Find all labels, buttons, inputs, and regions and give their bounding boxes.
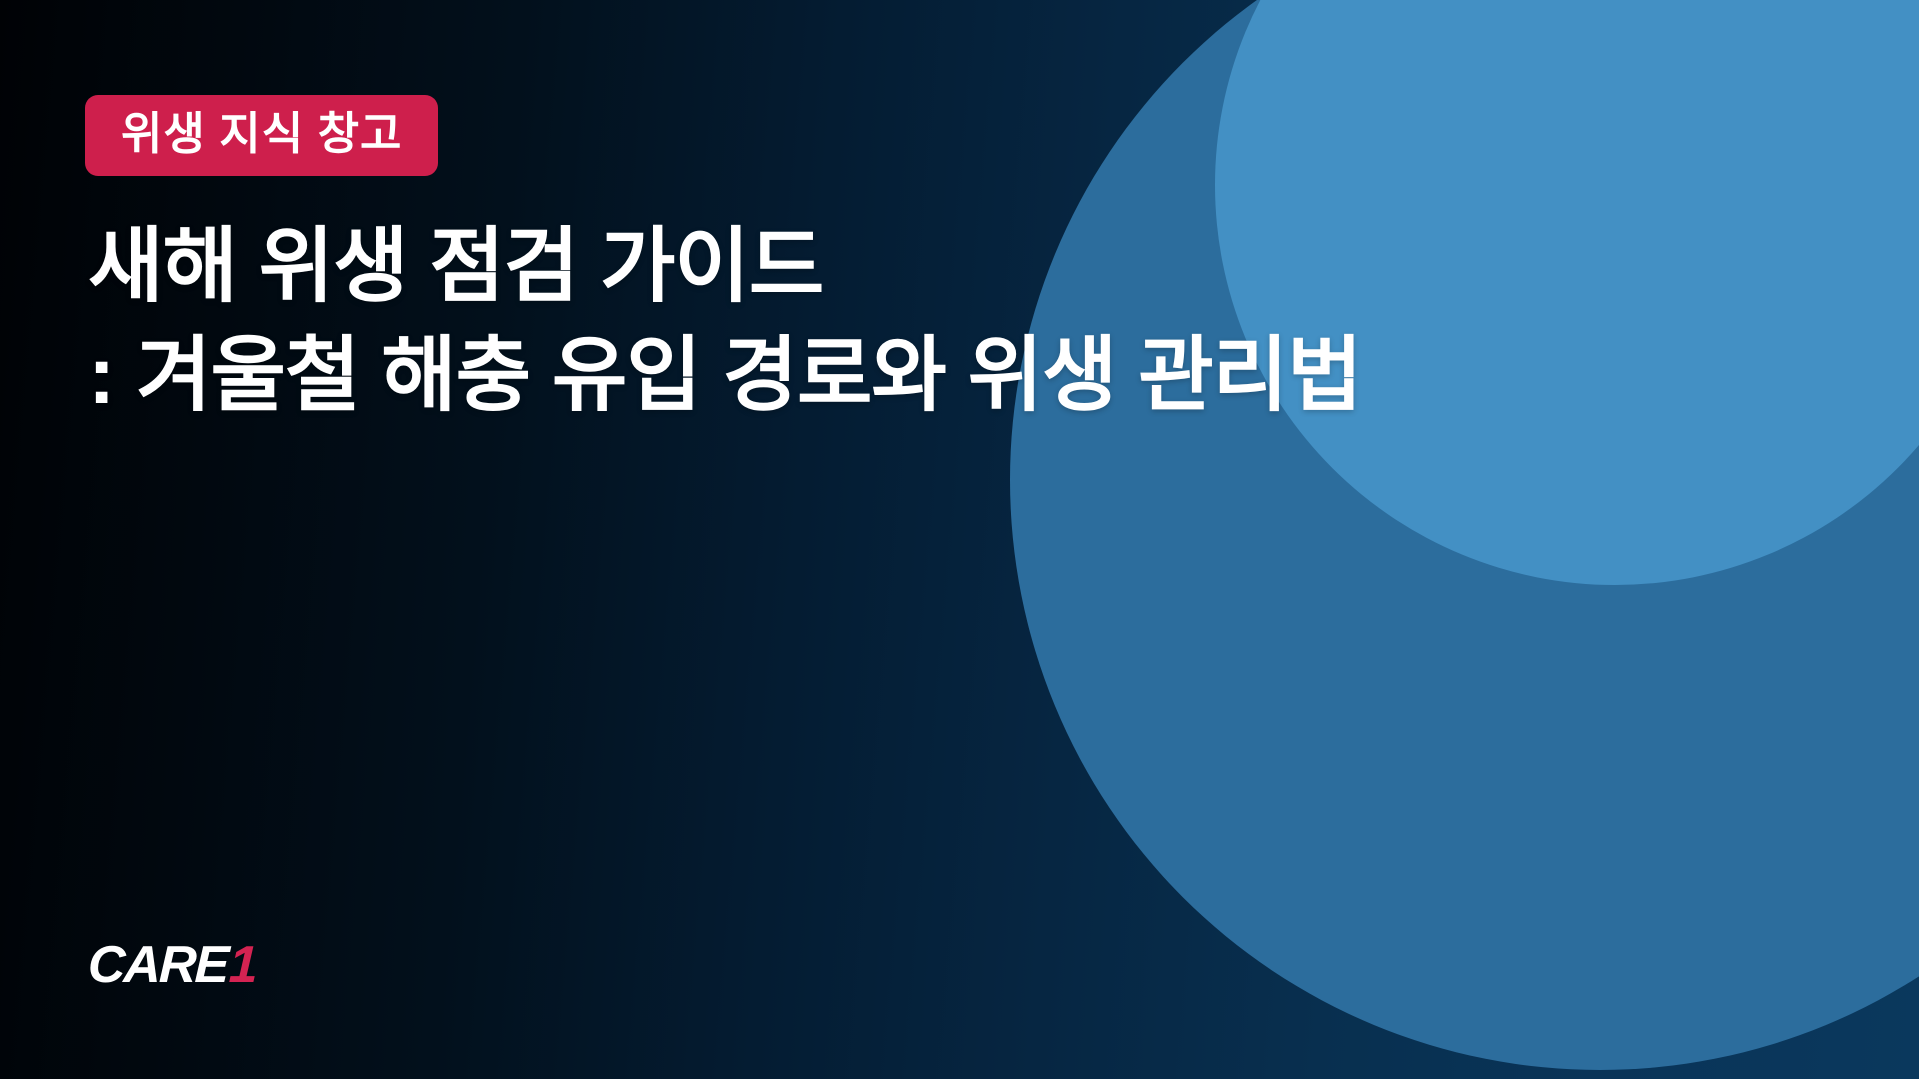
title-line-2: : 겨울철 해충 유입 경로와 위생 관리법 <box>88 321 1888 430</box>
category-badge-wrapper: 위생 지식 창고 <box>85 95 438 176</box>
thumbnail-canvas: 위생 지식 창고 새해 위생 점검 가이드 : 겨울철 해충 유입 경로와 위생… <box>0 0 1919 1079</box>
category-badge: 위생 지식 창고 <box>85 95 438 176</box>
brand-logo-accent: 1 <box>228 935 257 995</box>
title-line-1: 새해 위생 점검 가이드 <box>88 212 1888 321</box>
content-layer: 위생 지식 창고 새해 위생 점검 가이드 : 겨울철 해충 유입 경로와 위생… <box>0 0 1919 1079</box>
page-title: 새해 위생 점검 가이드 : 겨울철 해충 유입 경로와 위생 관리법 <box>88 212 1888 430</box>
brand-logo: CARE 1 <box>88 935 256 995</box>
brand-logo-word: CARE <box>87 935 228 995</box>
